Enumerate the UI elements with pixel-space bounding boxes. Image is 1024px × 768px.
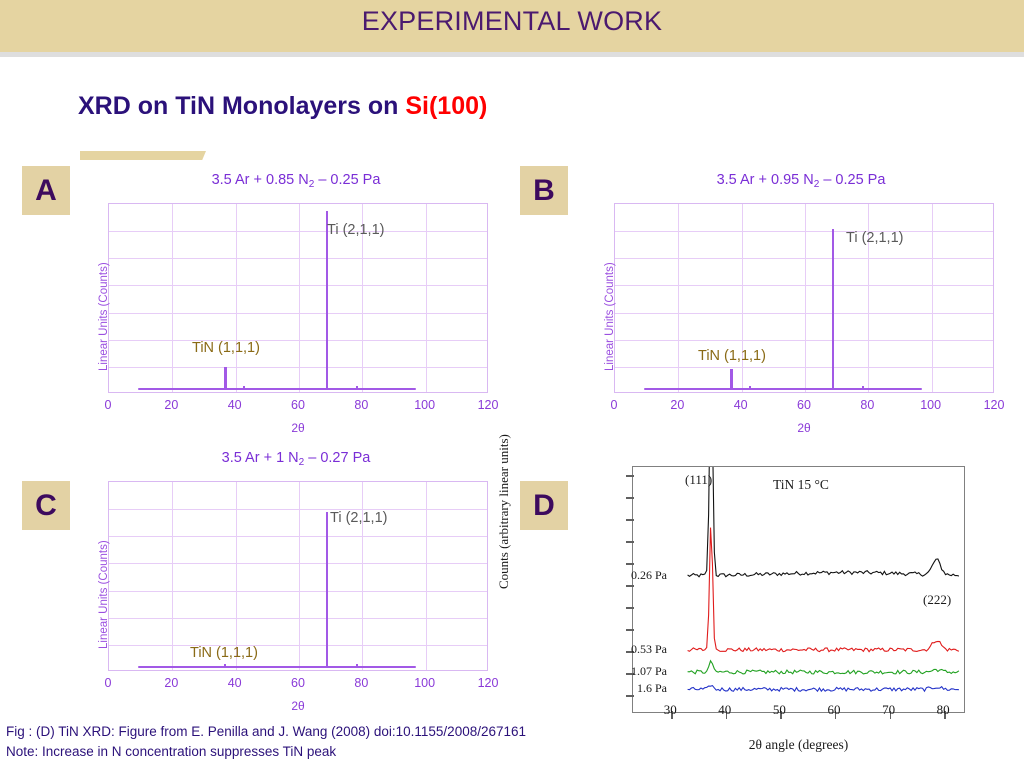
xrd-peak	[730, 369, 733, 390]
plot-area-c	[108, 481, 488, 671]
xrd-title-c: 3.5 Ar + 1 N2 – 0.27 Pa	[72, 450, 520, 466]
xrd-peak	[326, 211, 329, 390]
xrd-peak	[356, 386, 358, 390]
panel-d-y-tick	[626, 585, 634, 587]
panel-d-y-tick	[626, 497, 634, 499]
xrd-title-a: 3.5 Ar + 0.85 N2 – 0.25 Pa	[72, 172, 520, 188]
x-tick-label: 40	[228, 676, 242, 690]
slide-canvas: EXPERIMENTAL WORK XRD on TiN Monolayers …	[0, 0, 1024, 768]
panel-d-trace	[688, 661, 959, 674]
page-title-accent: Si(100)	[405, 92, 487, 120]
header-divider	[0, 52, 1024, 57]
xrd-peak	[832, 229, 835, 391]
annotation-tin-a: TiN (1,1,1)	[192, 340, 260, 356]
xrd-peak	[224, 367, 227, 390]
y-axis-label-a: Linear Units (Counts)	[98, 262, 110, 371]
plot-area-b	[614, 203, 994, 393]
gridline-horizontal	[109, 340, 487, 341]
gridline-vertical	[426, 482, 427, 670]
gridline-horizontal	[109, 563, 487, 564]
x-tick-label: 80	[354, 676, 368, 690]
gridline-horizontal	[615, 367, 993, 368]
plot-area-a	[108, 203, 488, 393]
figure-caption: Fig : (D) TiN XRD: Figure from E. Penill…	[6, 724, 526, 739]
panel-d-traces	[633, 467, 966, 714]
gridline-vertical	[172, 204, 173, 392]
gridline-vertical	[299, 204, 300, 392]
x-tick-label: 40	[228, 398, 242, 412]
panel-d-y-tick	[626, 541, 634, 543]
xrd-peak	[749, 386, 751, 390]
x-tick-label: 100	[920, 398, 941, 412]
xrd-baseline-a	[138, 388, 417, 391]
panel-d-trace-label: 0.26 Pa	[595, 568, 667, 583]
gridline-vertical	[805, 204, 806, 392]
annotation-ti-a: Ti (2,1,1)	[327, 222, 384, 238]
panel-d-y-tick	[626, 519, 634, 521]
xrd-baseline-c	[138, 666, 417, 669]
gridline-horizontal	[615, 285, 993, 286]
panel-d-trace-label: 0.53 Pa	[595, 642, 667, 657]
xrd-baseline-b	[644, 388, 923, 391]
panel-d-y-tick	[626, 629, 634, 631]
gridline-vertical	[172, 482, 173, 670]
x-tick-label: 100	[414, 676, 435, 690]
xrd-peak	[243, 386, 245, 390]
x-tick-label: 0	[105, 676, 112, 690]
gridline-horizontal	[615, 313, 993, 314]
annotation-tin-b: TiN (1,1,1)	[698, 348, 766, 364]
xrd-peak	[224, 664, 226, 668]
panel-label-d: D	[520, 481, 568, 530]
panel-label-b: B	[520, 166, 568, 215]
xrd-chart-a: 3.5 Ar + 0.85 N2 – 0.25 Pa02040608010012…	[72, 172, 520, 432]
x-tick-label: 100	[414, 398, 435, 412]
panel-d-y-tick	[626, 563, 634, 565]
gridline-horizontal	[109, 367, 487, 368]
gridline-horizontal	[109, 231, 487, 232]
gridline-horizontal	[109, 536, 487, 537]
annotation-ti-b: Ti (2,1,1)	[846, 230, 903, 246]
x-tick-label: 80	[860, 398, 874, 412]
x-tick-label: 0	[611, 398, 618, 412]
x-axis-label-a: 2θ	[108, 421, 488, 435]
x-tick-label: 120	[478, 676, 499, 690]
x-axis-label-b: 2θ	[614, 421, 994, 435]
panel-d-trace	[688, 686, 959, 692]
annotation-ti-c: Ti (2,1,1)	[330, 510, 387, 526]
header-title: EXPERIMENTAL WORK	[0, 6, 1024, 37]
xrd-title-b: 3.5 Ar + 0.95 N2 – 0.25 Pa	[578, 172, 1024, 188]
x-tick-label: 40	[734, 398, 748, 412]
panel-d-ylabel: Counts (arbitrary linear units)	[496, 434, 512, 589]
panel-d-xlabel: 2θ angle (degrees)	[632, 737, 965, 753]
panel-d-trace-label: 1.07 Pa	[595, 664, 667, 679]
y-axis-label-b: Linear Units (Counts)	[604, 262, 616, 371]
gridline-horizontal	[109, 618, 487, 619]
x-tick-label: 60	[291, 398, 305, 412]
gridline-vertical	[678, 204, 679, 392]
annotation-tin-c: TiN (1,1,1)	[190, 645, 258, 661]
xrd-chart-d: Counts (arbitrary linear units) TiN 15 °…	[600, 449, 1024, 759]
y-axis-label-c: Linear Units (Counts)	[98, 540, 110, 649]
gridline-horizontal	[109, 509, 487, 510]
panel-d-plot-frame: TiN 15 °C (111) (222) 0.26 Pa0.53 Pa1.07…	[632, 466, 965, 713]
xrd-chart-b: 3.5 Ar + 0.95 N2 – 0.25 Pa02040608010012…	[578, 172, 1024, 432]
panel-label-c: C	[22, 481, 70, 530]
gridline-vertical	[236, 204, 237, 392]
xrd-chart-c: 3.5 Ar + 1 N2 – 0.27 Pa020406080100120Li…	[72, 450, 520, 710]
x-tick-label: 20	[164, 676, 178, 690]
x-tick-label: 20	[164, 398, 178, 412]
gridline-vertical	[932, 204, 933, 392]
gridline-horizontal	[109, 285, 487, 286]
gridline-vertical	[426, 204, 427, 392]
panel-d-x-tick-label: 40	[718, 702, 731, 718]
decorative-bar	[80, 151, 206, 160]
panel-d-x-tick-label: 80	[937, 702, 950, 718]
xrd-peak	[356, 664, 358, 668]
gridline-horizontal	[109, 645, 487, 646]
x-tick-label: 120	[478, 398, 499, 412]
panel-d-x-tick-label: 50	[773, 702, 786, 718]
x-tick-label: 20	[670, 398, 684, 412]
panel-d-trace-label: 1.6 Pa	[595, 681, 667, 696]
gridline-vertical	[299, 482, 300, 670]
page-title: XRD on TiN Monolayers on Si(100)	[78, 92, 487, 121]
panel-label-a: A	[22, 166, 70, 215]
x-axis-label-c: 2θ	[108, 699, 488, 713]
x-tick-label: 60	[291, 676, 305, 690]
panel-d-y-tick	[626, 475, 634, 477]
x-tick-label: 0	[105, 398, 112, 412]
x-tick-label: 120	[984, 398, 1005, 412]
gridline-horizontal	[109, 258, 487, 259]
figure-note: Note: Increase in N concentration suppre…	[6, 744, 336, 759]
xrd-peak	[862, 386, 864, 390]
page-title-main: XRD on TiN Monolayers on	[78, 92, 405, 120]
gridline-horizontal	[109, 591, 487, 592]
panel-d-x-tick-label: 60	[827, 702, 840, 718]
xrd-peak	[326, 512, 329, 668]
gridline-horizontal	[109, 313, 487, 314]
x-tick-label: 60	[797, 398, 811, 412]
gridline-horizontal	[615, 340, 993, 341]
gridline-vertical	[236, 482, 237, 670]
panel-d-trace	[688, 528, 959, 652]
gridline-horizontal	[615, 231, 993, 232]
panel-d-trace	[688, 467, 959, 577]
gridline-horizontal	[615, 258, 993, 259]
panel-d-x-tick-label: 30	[664, 702, 677, 718]
panel-d-y-tick	[626, 607, 634, 609]
x-tick-label: 80	[354, 398, 368, 412]
panel-d-x-tick-label: 70	[882, 702, 895, 718]
